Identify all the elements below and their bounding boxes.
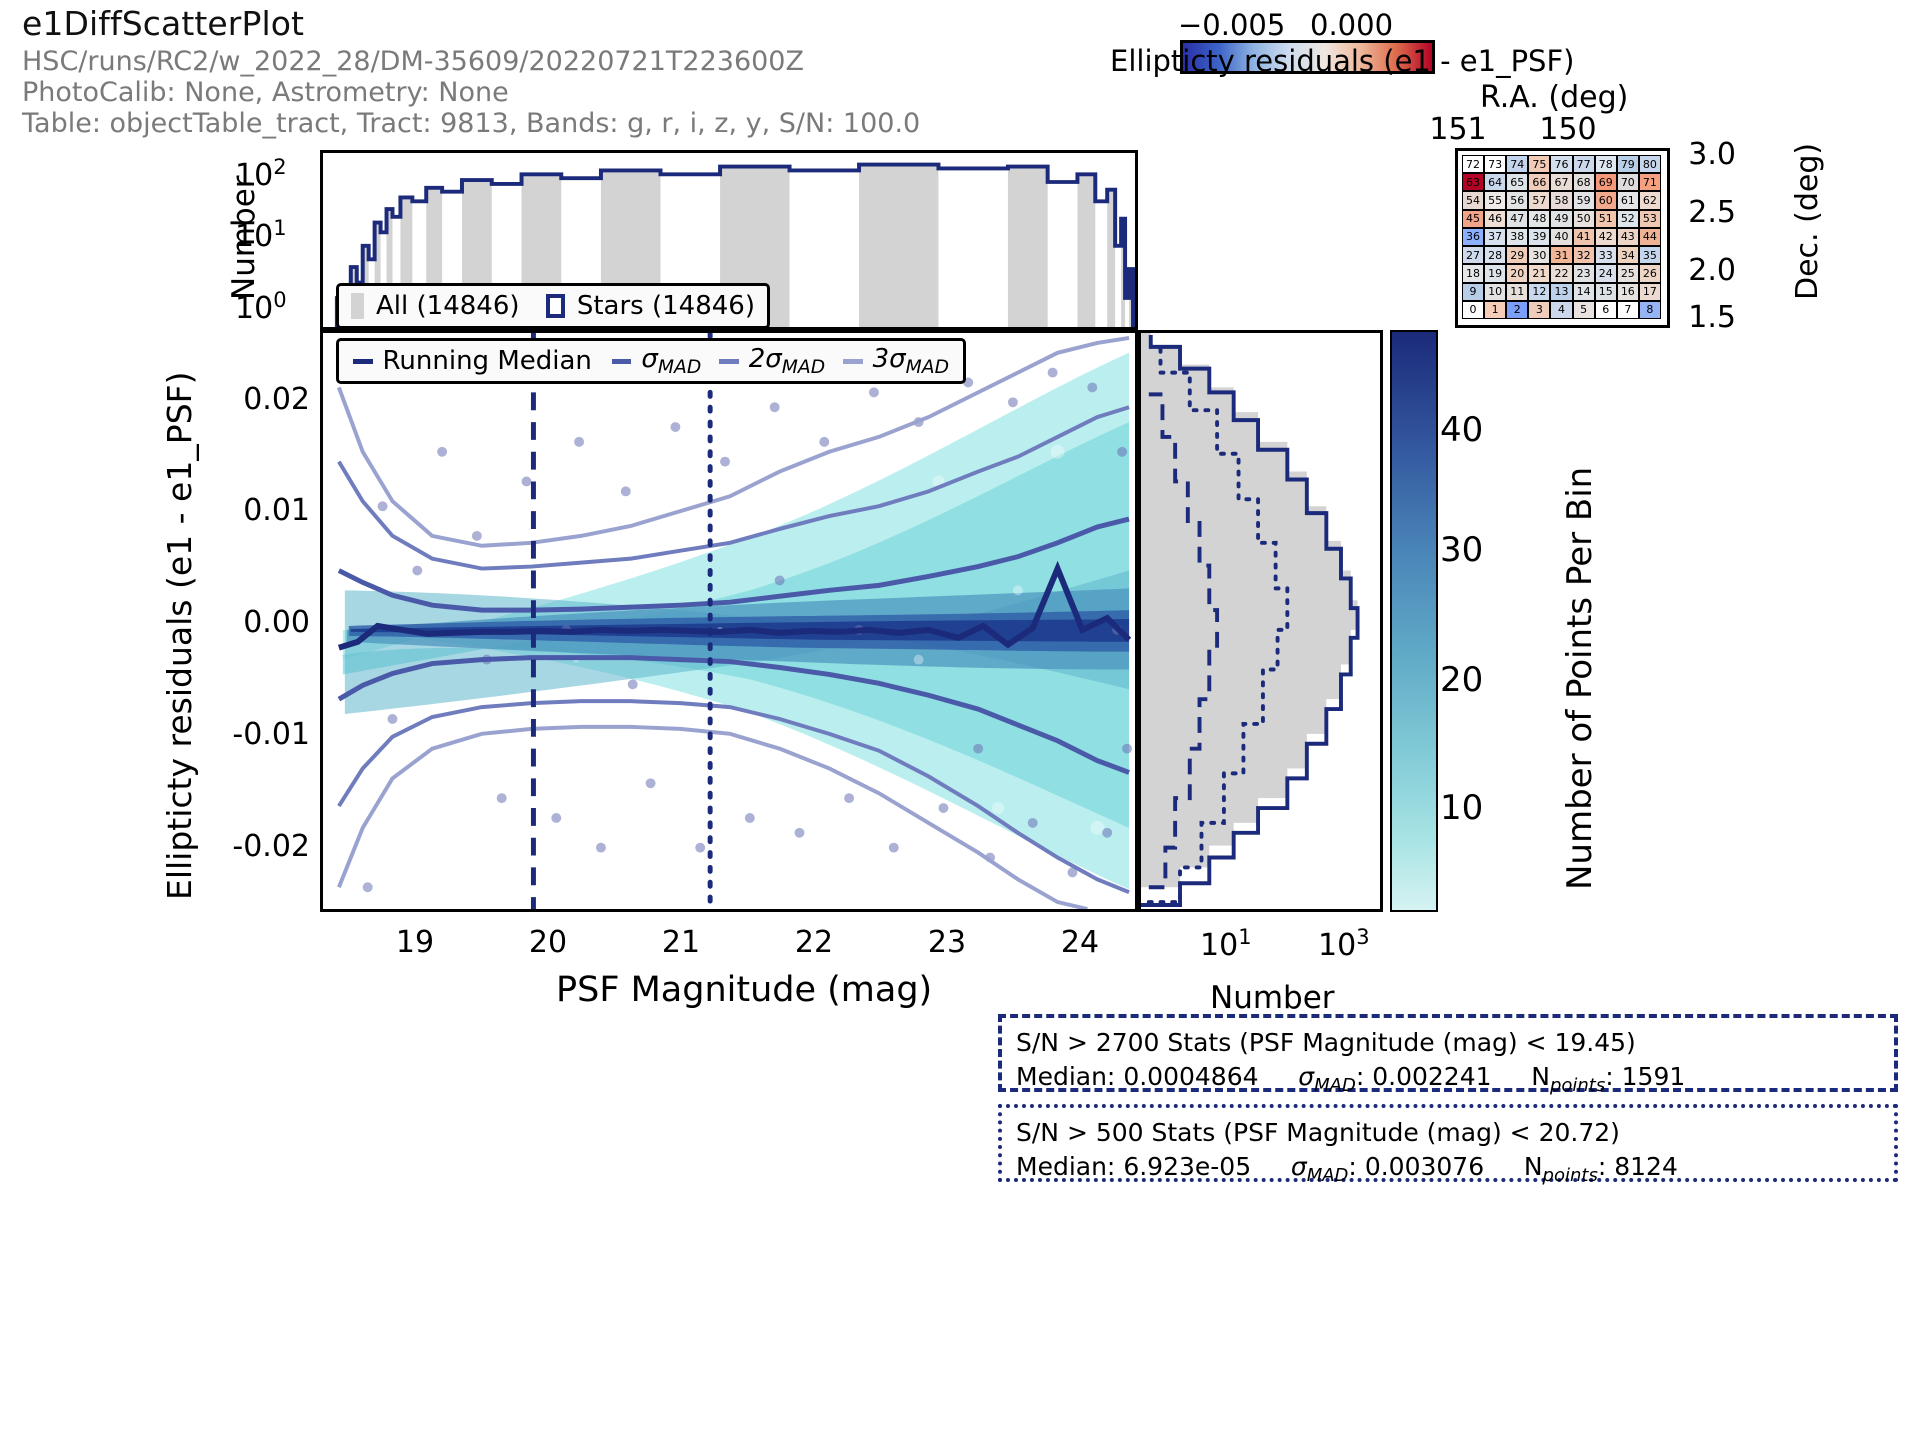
main-xaxis-label: PSF Magnitude (mag) [556, 970, 932, 1010]
main-xtick-21: 21 [651, 925, 711, 960]
stats-n-label-sn500: Npoints [1524, 1152, 1598, 1181]
skymap-patch-49[interactable]: 49 [1550, 210, 1572, 228]
skymap-patch-39[interactable]: 39 [1528, 228, 1550, 246]
skymap-patch-8[interactable]: 8 [1639, 301, 1661, 319]
skymap-patch-32[interactable]: 32 [1573, 246, 1595, 264]
skymap-patch-51[interactable]: 51 [1595, 210, 1617, 228]
skymap-patch-68[interactable]: 68 [1573, 173, 1595, 191]
main-ytick-0.02: 0.02 [140, 382, 310, 417]
legend-swatch-stars [546, 294, 565, 318]
skymap-patch-67[interactable]: 67 [1550, 173, 1572, 191]
skymap-patch-40[interactable]: 40 [1550, 228, 1572, 246]
skymap-patch-47[interactable]: 47 [1506, 210, 1528, 228]
stats-n-value-sn500: 8124 [1614, 1152, 1678, 1181]
skymap-yaxis-label: Dec. (deg) [1790, 143, 1825, 300]
legend-label-1sigma: σMAD [641, 344, 701, 378]
skymap-patch-43[interactable]: 43 [1617, 228, 1639, 246]
skymap-patch-45[interactable]: 45 [1462, 210, 1484, 228]
skymap-patch-16[interactable]: 16 [1617, 283, 1639, 301]
tophist-ytick-1e2: 102 [235, 155, 287, 193]
main-ytick--0.01: -0.01 [140, 717, 310, 752]
skymap-patch-66[interactable]: 66 [1528, 173, 1550, 191]
stats-n-value-sn2700: 1591 [1622, 1062, 1686, 1091]
metadata-line-calib: PhotoCalib: None, Astrometry: None [22, 77, 920, 108]
skymap-patch-17[interactable]: 17 [1639, 283, 1661, 301]
skymap-patch-58[interactable]: 58 [1550, 191, 1572, 209]
skymap-patch-18[interactable]: 18 [1462, 264, 1484, 282]
legend-line-3sigma [843, 359, 863, 364]
skymap-patch-70[interactable]: 70 [1617, 173, 1639, 191]
colorbar-tick-30: 30 [1440, 530, 1510, 570]
colorbar-tick-20: 20 [1440, 660, 1510, 700]
sidehist-xtick-1e3: 103 [1318, 925, 1370, 963]
metadata-line-collection: HSC/runs/RC2/w_2022_28/DM-35609/20220721… [22, 46, 920, 77]
legend-label-3sigma: 3σMAD [873, 344, 949, 378]
stats-median-value-sn500: 6.923e-05 [1123, 1152, 1251, 1181]
tophist-ytick-1e2-mantissa: 10 [235, 158, 273, 193]
skymap-patch-31[interactable]: 31 [1550, 246, 1572, 264]
skymap-patch-21[interactable]: 21 [1528, 264, 1550, 282]
skymap-patch-53[interactable]: 53 [1639, 210, 1661, 228]
skymap-patch-1[interactable]: 1 [1484, 301, 1506, 319]
skymap-patch-46[interactable]: 46 [1484, 210, 1506, 228]
skymap-patch-9[interactable]: 9 [1462, 283, 1484, 301]
tophist-ytick-1e2-exponent: 2 [273, 155, 286, 179]
main-xtick-23: 23 [917, 925, 977, 960]
tophist-ytick-1e0-mantissa: 10 [235, 291, 273, 326]
skymap-patch-30[interactable]: 30 [1528, 246, 1550, 264]
main-xtick-24: 24 [1050, 925, 1110, 960]
skymap-patch-5[interactable]: 5 [1573, 301, 1595, 319]
skymap-patch-0[interactable]: 0 [1462, 301, 1484, 319]
skymap-patch-3[interactable]: 3 [1528, 301, 1550, 319]
skymap-patch-35[interactable]: 35 [1639, 246, 1661, 264]
stats-values-sn500: Median: 6.923e-05 σMAD: 0.003076 Npoints… [1016, 1150, 1880, 1193]
skymap-patch-41[interactable]: 41 [1573, 228, 1595, 246]
hexbin-cloud [343, 353, 1129, 889]
page-title: e1DiffScatterPlot [22, 4, 304, 43]
sidehist-xtick-1e1-mantissa: 10 [1200, 928, 1238, 963]
skymap-patch-10[interactable]: 10 [1484, 283, 1506, 301]
stats-box-sn500: S/N > 500 Stats (PSF Magnitude (mag) < 2… [998, 1104, 1898, 1182]
skymap-patch-6[interactable]: 6 [1595, 301, 1617, 319]
density-colorbar[interactable] [1390, 330, 1438, 912]
skymap-patch-59[interactable]: 59 [1573, 191, 1595, 209]
tophist-ytick-1e1: 101 [235, 216, 287, 254]
skymap-patch-63[interactable]: 63 [1462, 173, 1484, 191]
skymap-patch-24[interactable]: 24 [1595, 264, 1617, 282]
legend-line-1sigma [612, 359, 632, 364]
stats-sigma-value-sn2700: 0.002241 [1372, 1062, 1491, 1091]
skymap-patch-7[interactable]: 7 [1617, 301, 1639, 319]
skymap-patch-57[interactable]: 57 [1528, 191, 1550, 209]
skymap-patch-79[interactable]: 79 [1617, 155, 1639, 173]
skymap-patch-56[interactable]: 56 [1506, 191, 1528, 209]
skymap-patch-78[interactable]: 78 [1595, 155, 1617, 173]
legend-line-running-median [353, 359, 373, 364]
skymap-patch-69[interactable]: 69 [1595, 173, 1617, 191]
main-scatter-svg [323, 333, 1135, 909]
skymap-patch-76[interactable]: 76 [1550, 155, 1572, 173]
skymap-patch-37[interactable]: 37 [1484, 228, 1506, 246]
skymap-patch-22[interactable]: 22 [1550, 264, 1572, 282]
skymap-patch-74[interactable]: 74 [1506, 155, 1528, 173]
skymap-patch-36[interactable]: 36 [1462, 228, 1484, 246]
stats-values-sn2700: Median: 0.0004864 σMAD: 0.002241 Npoints… [1016, 1060, 1880, 1103]
skymap-patch-38[interactable]: 38 [1506, 228, 1528, 246]
main-xtick-20: 20 [518, 925, 578, 960]
skymap-colorbar-label: Ellipticty residuals (e1 - e1_PSF) [1110, 44, 1574, 78]
stats-sigma-label-sn500: σMAD [1291, 1152, 1349, 1181]
sidehist-xaxis-label: Number [1210, 980, 1335, 1016]
skymap-patch-26[interactable]: 26 [1639, 264, 1661, 282]
stats-median-label-sn2700: Median: [1016, 1062, 1115, 1091]
metadata-line-table: Table: objectTable_tract, Tract: 9813, B… [22, 108, 920, 139]
stats-median-label-sn500: Median: [1016, 1152, 1115, 1181]
skymap-patch-48[interactable]: 48 [1528, 210, 1550, 228]
skymap-patch-80[interactable]: 80 [1639, 155, 1661, 173]
skymap-patch-27[interactable]: 27 [1462, 246, 1484, 264]
skymap-colorbar-ticklabel-1: 0.000 [1310, 8, 1393, 42]
main-scatter-legend[interactable]: Running Median σMAD 2σMAD 3σMAD [336, 338, 966, 384]
skymap-patch-19[interactable]: 19 [1484, 264, 1506, 282]
skymap-patch-60[interactable]: 60 [1595, 191, 1617, 209]
colorbar-tick-10: 10 [1440, 788, 1510, 828]
tophist-ytick-1e1-exponent: 1 [273, 216, 286, 240]
legend-line-2sigma [719, 359, 739, 364]
skymap-patch-15[interactable]: 15 [1595, 283, 1617, 301]
skymap-patch-65[interactable]: 65 [1506, 173, 1528, 191]
tophist-ytick-1e1-mantissa: 10 [235, 219, 273, 254]
skymap-xtick-150: 150 [1538, 112, 1598, 147]
skymap-patch-44[interactable]: 44 [1639, 228, 1661, 246]
main-ytick-0.00: 0.00 [140, 605, 310, 640]
skymap-patch-73[interactable]: 73 [1484, 155, 1506, 173]
skymap-patch-13[interactable]: 13 [1550, 283, 1572, 301]
skymap-patch-77[interactable]: 77 [1573, 155, 1595, 173]
skymap-patch-75[interactable]: 75 [1528, 155, 1550, 173]
legend-label-stars: Stars (14846) [577, 291, 755, 321]
skymap-patch-72[interactable]: 72 [1462, 155, 1484, 173]
skymap-panel[interactable]: 7273747576777879806364656667686970715455… [1455, 148, 1670, 328]
skymap-patch-64[interactable]: 64 [1484, 173, 1506, 191]
colorbar-tick-40: 40 [1440, 410, 1510, 450]
skymap-patch-14[interactable]: 14 [1573, 283, 1595, 301]
skymap-patch-52[interactable]: 52 [1617, 210, 1639, 228]
plot-metadata: HSC/runs/RC2/w_2022_28/DM-35609/20220721… [22, 46, 920, 139]
skymap-patch-11[interactable]: 11 [1506, 283, 1528, 301]
skymap-patch-42[interactable]: 42 [1595, 228, 1617, 246]
stats-sigma-label-sn2700: σMAD [1298, 1062, 1356, 1091]
top-histogram-legend[interactable]: All (14846) Stars (14846) [336, 283, 770, 329]
skymap-patch-25[interactable]: 25 [1617, 264, 1639, 282]
main-scatter-panel[interactable] [320, 330, 1138, 912]
side-histogram-panel[interactable] [1138, 330, 1383, 912]
stats-header-sn500: S/N > 500 Stats (PSF Magnitude (mag) < 2… [1016, 1116, 1880, 1150]
sidehist-xtick-1e1-exponent: 1 [1238, 925, 1251, 949]
skymap-patch-55[interactable]: 55 [1484, 191, 1506, 209]
skymap-patch-71[interactable]: 71 [1639, 173, 1661, 191]
legend-swatch-all [351, 293, 364, 319]
skymap-patch-62[interactable]: 62 [1639, 191, 1661, 209]
tophist-ytick-1e0-exponent: 0 [273, 288, 286, 312]
skymap-patch-12[interactable]: 12 [1528, 283, 1550, 301]
skymap-patch-61[interactable]: 61 [1617, 191, 1639, 209]
sidehist-xtick-1e1: 101 [1200, 925, 1252, 963]
skymap-patch-grid[interactable]: 7273747576777879806364656667686970715455… [1462, 155, 1661, 319]
skymap-ytick-2.5: 2.5 [1676, 195, 1736, 230]
legend-label-all: All (14846) [376, 291, 520, 321]
skymap-patch-4[interactable]: 4 [1550, 301, 1572, 319]
skymap-ytick-1.5: 1.5 [1676, 300, 1736, 335]
stats-header-sn2700: S/N > 2700 Stats (PSF Magnitude (mag) < … [1016, 1026, 1880, 1060]
main-xtick-19: 19 [385, 925, 445, 960]
skymap-patch-33[interactable]: 33 [1595, 246, 1617, 264]
skymap-ytick-3.0: 3.0 [1676, 137, 1736, 172]
skymap-patch-29[interactable]: 29 [1506, 246, 1528, 264]
stats-n-label-sn2700: Npoints [1531, 1062, 1605, 1091]
tophist-ytick-1e0: 100 [235, 288, 287, 326]
skymap-patch-23[interactable]: 23 [1573, 264, 1595, 282]
side-histogram-svg [1141, 333, 1380, 909]
stats-box-sn2700: S/N > 2700 Stats (PSF Magnitude (mag) < … [998, 1014, 1898, 1092]
legend-label-running-median: Running Median [383, 346, 592, 376]
sidehist-xtick-1e3-mantissa: 10 [1318, 928, 1356, 963]
skymap-colorbar-ticklabel-0: −0.005 [1178, 8, 1285, 42]
skymap-patch-34[interactable]: 34 [1617, 246, 1639, 264]
skymap-patch-50[interactable]: 50 [1573, 210, 1595, 228]
skymap-patch-2[interactable]: 2 [1506, 301, 1528, 319]
stats-sigma-value-sn500: 0.003076 [1365, 1152, 1484, 1181]
main-ytick-0.01: 0.01 [140, 493, 310, 528]
colorbar-label: Number of Points Per Bin [1560, 467, 1600, 890]
stats-median-value-sn2700: 0.0004864 [1123, 1062, 1258, 1091]
skymap-ytick-2.0: 2.0 [1676, 253, 1736, 288]
legend-label-2sigma: 2σMAD [749, 344, 825, 378]
skymap-patch-28[interactable]: 28 [1484, 246, 1506, 264]
sidehist-xtick-1e3-exponent: 3 [1356, 925, 1369, 949]
main-ytick--0.02: -0.02 [140, 829, 310, 864]
main-xtick-22: 22 [784, 925, 844, 960]
skymap-xaxis-label: R.A. (deg) [1480, 80, 1628, 115]
skymap-xtick-151: 151 [1428, 112, 1488, 147]
skymap-patch-54[interactable]: 54 [1462, 191, 1484, 209]
skymap-patch-20[interactable]: 20 [1506, 264, 1528, 282]
